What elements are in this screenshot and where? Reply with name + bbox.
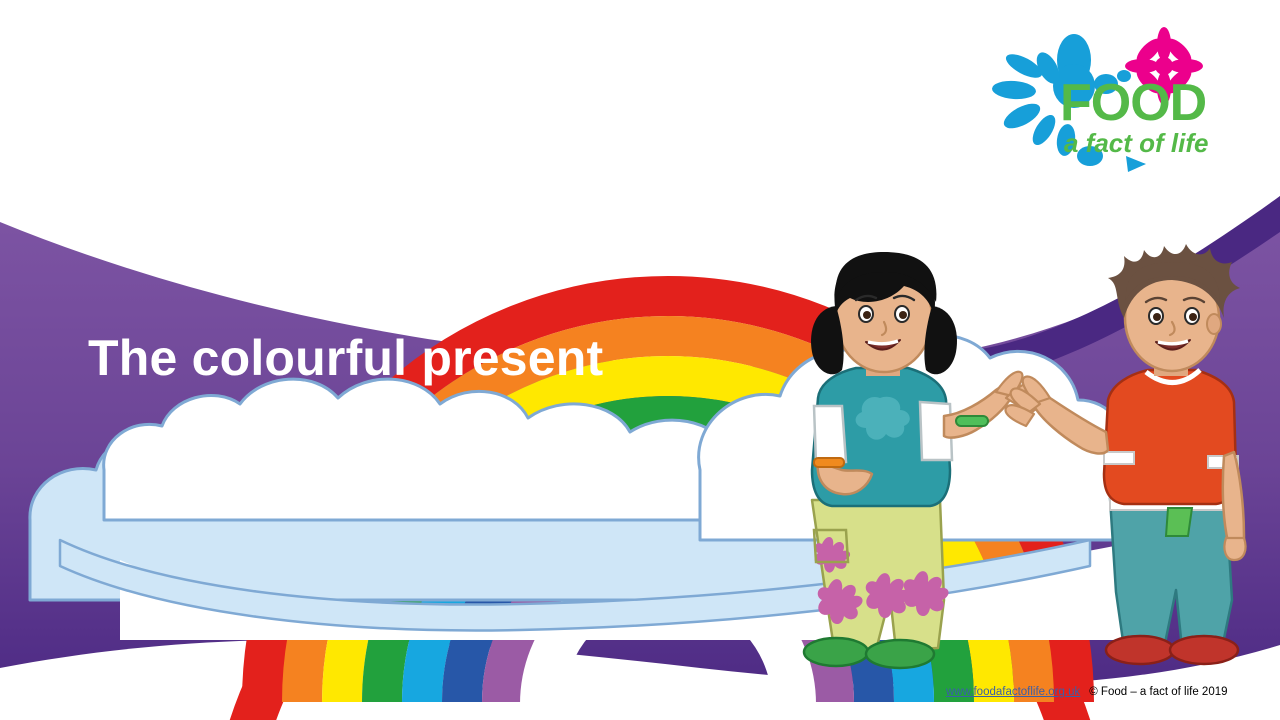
boy-belt-tab: [1166, 508, 1192, 536]
copyright-text: © Food – a fact of life 2019: [1089, 686, 1227, 698]
girl-bracelet-green: [956, 416, 988, 426]
footer: www.foodafactoflife.org.uk © Food – a fa…: [946, 686, 1228, 698]
girl-bracelet-orange: [814, 458, 844, 467]
page-title: The colourful present: [88, 331, 603, 386]
logo-wordmark: FOOD: [1060, 74, 1206, 132]
website-link[interactable]: www.foodafactoflife.org.uk: [946, 686, 1080, 698]
slide-canvas: FOOD a fact of life The colourful presen…: [0, 0, 1280, 720]
logo-tagline: a fact of life: [1064, 128, 1208, 158]
food-a-fact-of-life-logo[interactable]: FOOD a fact of life: [978, 24, 1218, 176]
